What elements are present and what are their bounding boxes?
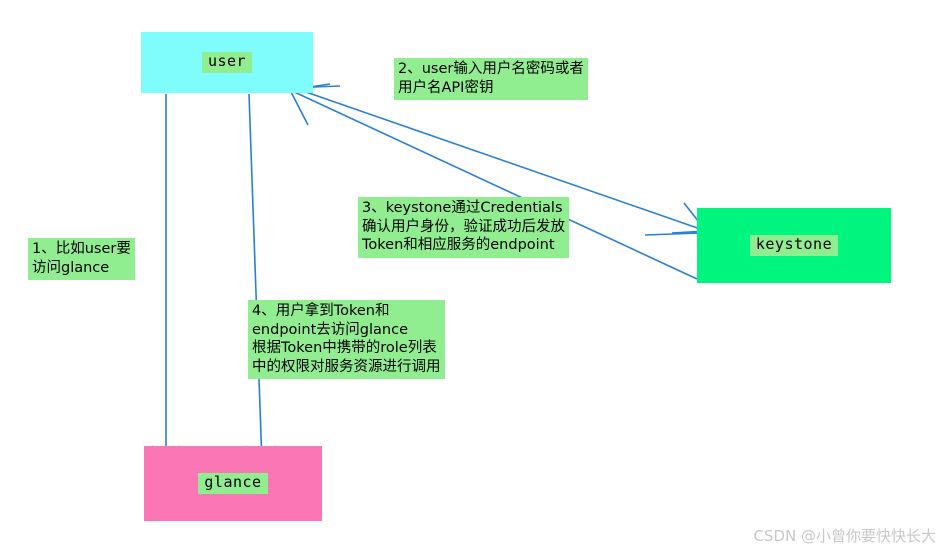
annotation-step-2: 2、user输入用户名密码或者 用户名API密钥 bbox=[394, 58, 588, 100]
annotation-step-3: 3、keystone通过Credentials 确认用户身份，验证成功后发放 T… bbox=[358, 197, 569, 258]
edge-stub-keystone bbox=[645, 233, 700, 235]
node-glance[interactable]: glance bbox=[144, 446, 322, 521]
diagram-canvas: user keystone glance 1、比如user要 访问glance … bbox=[0, 0, 948, 554]
edge-user-to-glance-2 bbox=[246, 94, 276, 464]
watermark-text: CSDN @小曾你要快快长大 bbox=[753, 525, 936, 546]
node-keystone-label: keystone bbox=[750, 235, 838, 255]
annotation-step-1: 1、比如user要 访问glance bbox=[28, 238, 135, 280]
node-user[interactable]: user bbox=[141, 32, 313, 93]
node-glance-label: glance bbox=[198, 473, 267, 493]
node-user-label: user bbox=[202, 52, 252, 72]
node-keystone[interactable]: keystone bbox=[697, 208, 891, 283]
annotation-step-4: 4、用户拿到Token和 endpoint去访问glance 根据Token中携… bbox=[248, 300, 445, 379]
edge-user-to-glance-1 bbox=[152, 94, 180, 464]
